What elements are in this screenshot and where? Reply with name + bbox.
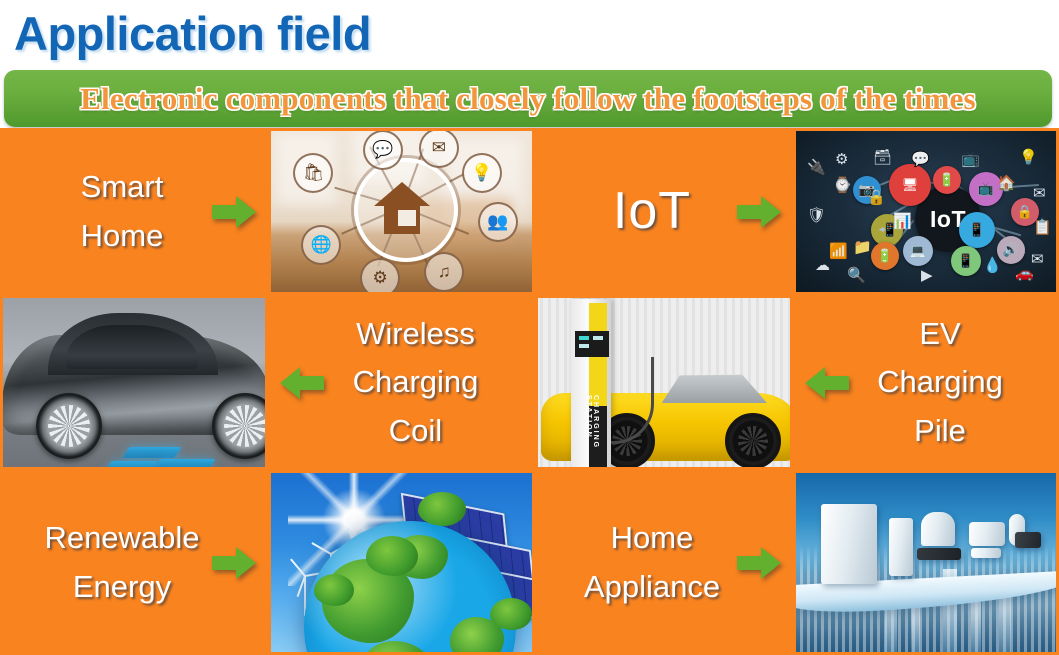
page-title: Application field: [14, 2, 371, 66]
graduation-mail-icon: ✉: [1031, 252, 1044, 267]
car-icon: 🚗: [1015, 266, 1034, 281]
cell-smart-home-image: 💬 ✉ 💡 👥 ♫ ⚙ 🌐 🛍: [268, 128, 535, 295]
microwave-icon: 📺: [961, 152, 980, 167]
cell-label-ev-charging-pile: EV Charging Pile: [877, 310, 1003, 454]
house-icon: [372, 180, 432, 236]
water-heater-icon: [889, 518, 913, 576]
lightbulb-icon: 💡: [462, 153, 502, 193]
smartwatch-icon: ⌚: [833, 178, 852, 193]
chat-bubble-icon: 💬: [363, 130, 403, 170]
laptop-icon: 💻: [903, 236, 933, 266]
gears-icon: ⚙: [835, 152, 848, 167]
wifi-icon: 📶: [829, 244, 848, 259]
home-icon: 🏠: [997, 176, 1016, 191]
people-icon: 👥: [478, 202, 518, 242]
tree-icon: [366, 536, 418, 576]
smart-home-illustration: 💬 ✉ 💡 👥 ♫ ⚙ 🌐 🛍: [268, 128, 535, 295]
wireless-charging-pad: [152, 459, 215, 470]
tagline-banner: Electronic components that closely follo…: [4, 70, 1052, 127]
folder-icon: 📁: [853, 240, 872, 255]
music-note-icon: ♫: [424, 252, 464, 292]
shield-icon: 🛡: [807, 208, 826, 223]
bulb-icon: 💡: [1019, 150, 1038, 165]
dishwasher-icon: [821, 504, 877, 584]
chart-icon: 📊: [893, 214, 912, 229]
arrow-right-icon: [212, 545, 256, 581]
server-icon: 🗃: [873, 150, 892, 165]
cell-label-smart-home: Smart Home: [81, 163, 164, 259]
cell-renewable-energy[interactable]: Renewable Energy: [0, 470, 268, 655]
arrow-left-icon: [805, 365, 849, 401]
charging-station-label: CHARGING STATION: [585, 395, 599, 470]
tree-icon: [490, 598, 532, 630]
cell-iot-image: IoT 🖥 📷 🔋 📺 🔒 📱 📲 🔋 💻 📱 🔊 🔌 ⚙ 🗃 💬 📺 💡: [793, 128, 1059, 295]
cell-label-wireless-charging-coil: Wireless Charging Coil: [353, 310, 479, 454]
arrow-left-icon: [280, 365, 324, 401]
application-field-slide: Application field Electronic components …: [0, 0, 1059, 655]
cell-ev-charging-pile[interactable]: EV Charging Pile: [793, 295, 1059, 470]
renewable-energy-photo: [268, 470, 535, 655]
tree-icon: [418, 492, 466, 526]
charging-station-display: [575, 331, 609, 357]
gear-icon: ⚙: [360, 258, 400, 295]
cell-ev-charging-station-image: CHARGING STATION: [535, 295, 793, 470]
arrow-right-icon: [737, 545, 781, 581]
cell-label-home-appliance: Home Appliance: [584, 514, 720, 610]
silver-car-photo: [0, 295, 268, 470]
plug-icon: 🔌: [807, 160, 826, 175]
arrow-right-icon: [737, 194, 781, 230]
clipboard-icon: 📋: [1033, 220, 1052, 235]
cell-wireless-charging-car-image: [0, 295, 268, 470]
lock-icon: 🔒: [867, 190, 886, 205]
cloud-icon: ☁: [815, 258, 830, 273]
cell-home-appliance[interactable]: Home Appliance: [535, 470, 793, 655]
cell-home-appliance-image: [793, 470, 1059, 655]
monitor-icon: 🖥: [889, 164, 931, 206]
application-grid: Smart Home: [0, 128, 1059, 655]
cell-label-iot: IoT: [613, 183, 691, 240]
search-icon: 🔍: [847, 268, 866, 283]
audio-unit-icon: [1015, 532, 1041, 548]
cell-renewable-energy-image: [268, 470, 535, 655]
arrow-right-icon: [212, 194, 256, 230]
tree-icon: [314, 574, 354, 606]
ev-charging-station-photo: CHARGING STATION: [535, 295, 793, 470]
cell-smart-home[interactable]: Smart Home: [0, 128, 268, 295]
oven-icon: [969, 522, 1005, 546]
cell-label-renewable-energy: Renewable Energy: [44, 514, 199, 610]
wireless-charging-pad: [104, 461, 157, 470]
iot-network-illustration: IoT 🖥 📷 🔋 📺 🔒 📱 📲 🔋 💻 📱 🔊 🔌 ⚙ 🗃 💬 📺 💡: [793, 128, 1059, 295]
microwave-icon: [971, 548, 1001, 558]
chat-icon: 💬: [911, 152, 930, 167]
appliance-icon: 🔋: [871, 242, 899, 270]
battery-icon: 🔋: [933, 166, 961, 194]
tagline-text: Electronic components that closely follo…: [80, 81, 976, 117]
smartphone-icon: 📱: [959, 212, 995, 248]
charging-pillar: CHARGING STATION: [571, 299, 611, 470]
range-hood-icon: [921, 512, 955, 546]
mail-icon: ✉: [1033, 186, 1046, 201]
wireless-charging-pad: [122, 447, 181, 458]
cell-iot[interactable]: IoT: [535, 128, 793, 295]
home-appliance-photo: [793, 470, 1059, 655]
cell-wireless-charging-coil[interactable]: Wireless Charging Coil: [268, 295, 535, 470]
router-icon: 📱: [951, 246, 981, 276]
email-icon: ✉: [419, 128, 459, 168]
cooktop-icon dark: [917, 548, 961, 560]
play-icon: ▶: [921, 268, 933, 283]
droplet-icon: 💧: [983, 258, 1002, 273]
